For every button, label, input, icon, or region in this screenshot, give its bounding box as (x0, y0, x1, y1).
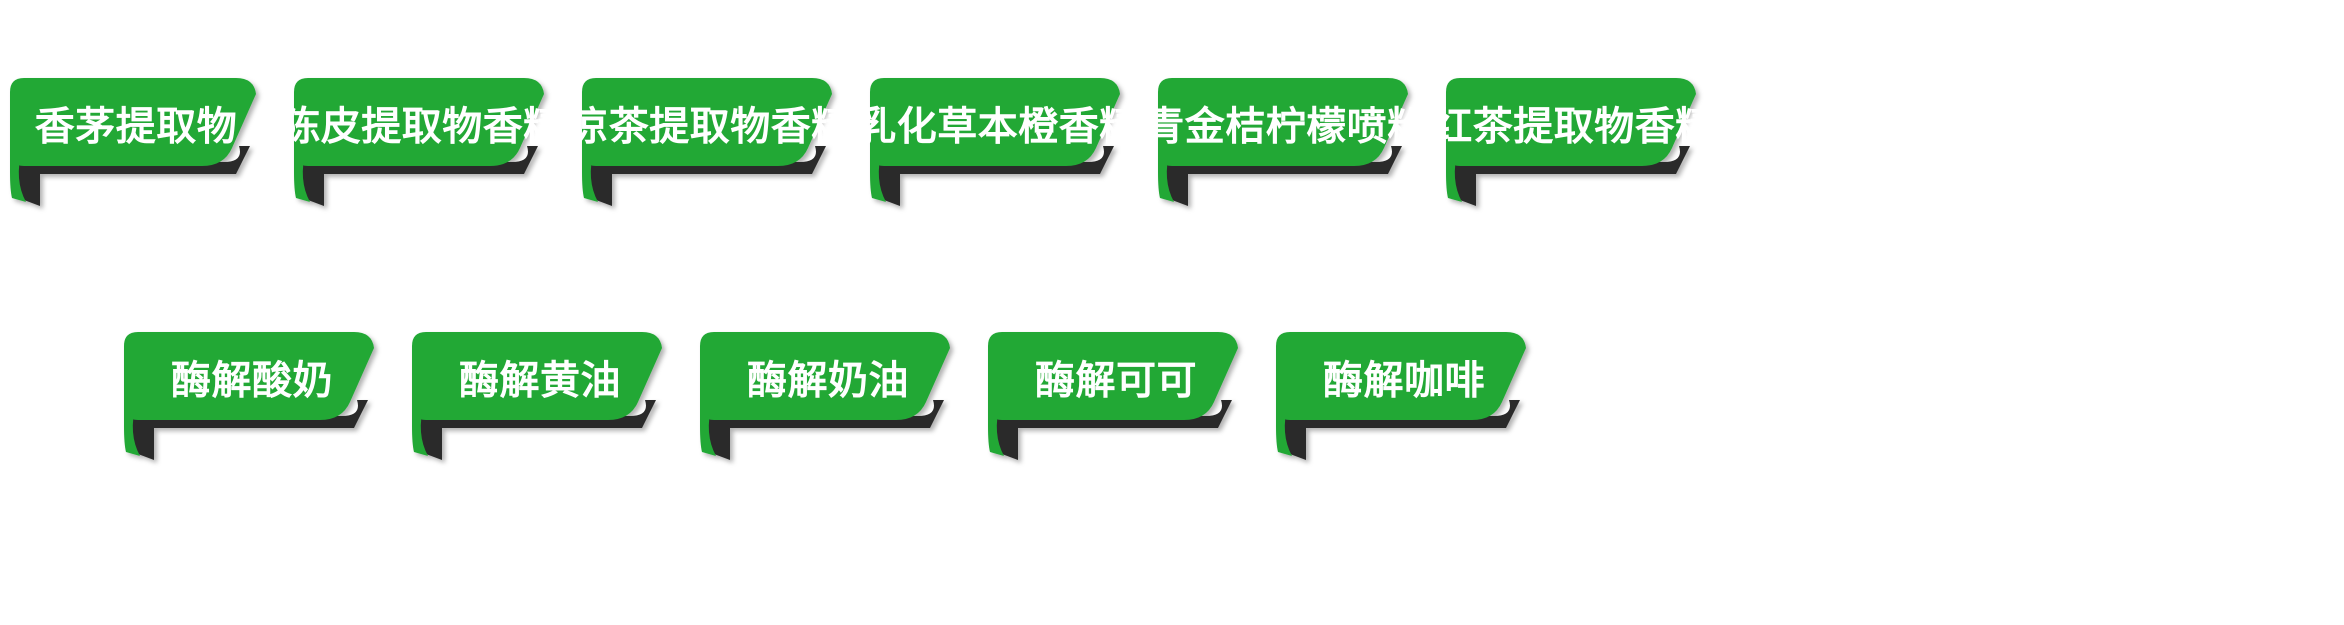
ribbon-body (700, 332, 950, 420)
ribbon-tag[interactable]: 酶解可可 (988, 332, 1240, 460)
ribbon-tag[interactable]: 青金桔柠檬喷粉 (1158, 78, 1410, 206)
ribbon-tag[interactable]: 香茅提取物 (10, 78, 258, 206)
ribbon-shape (582, 78, 834, 206)
ribbon-shape (988, 332, 1240, 460)
ribbon-tag[interactable]: 酶解奶油 (700, 332, 952, 460)
ribbon-tag-board: 香茅提取物陈皮提取物香精凉茶提取物香精乳化草本橙香精青金桔柠檬喷粉红茶提取物香精… (0, 0, 2344, 625)
ribbon-body (1276, 332, 1526, 420)
ribbon-shape (870, 78, 1122, 206)
ribbon-tag[interactable]: 红茶提取物香精 (1446, 78, 1698, 206)
extract-flavor-row: 香茅提取物陈皮提取物香精凉茶提取物香精乳化草本橙香精青金桔柠檬喷粉红茶提取物香精 (10, 78, 1698, 206)
ribbon-shape (124, 332, 376, 460)
ribbon-tag[interactable]: 酶解酸奶 (124, 332, 376, 460)
ribbon-shape (412, 332, 664, 460)
ribbon-body (582, 78, 832, 166)
ribbon-tag[interactable]: 陈皮提取物香精 (294, 78, 546, 206)
ribbon-body (988, 332, 1238, 420)
ribbon-shape (1446, 78, 1698, 206)
ribbon-tag[interactable]: 酶解黄油 (412, 332, 664, 460)
ribbon-body (124, 332, 374, 420)
ribbon-shape (10, 78, 258, 206)
ribbon-body (10, 78, 256, 166)
enzymolysis-flavor-row: 酶解酸奶酶解黄油酶解奶油酶解可可酶解咖啡 (124, 332, 1528, 460)
ribbon-shape (1158, 78, 1410, 206)
ribbon-body (294, 78, 544, 166)
ribbon-tag[interactable]: 凉茶提取物香精 (582, 78, 834, 206)
ribbon-body (1158, 78, 1408, 166)
ribbon-shape (700, 332, 952, 460)
ribbon-body (870, 78, 1120, 166)
ribbon-body (412, 332, 662, 420)
ribbon-tag[interactable]: 乳化草本橙香精 (870, 78, 1122, 206)
ribbon-tag[interactable]: 酶解咖啡 (1276, 332, 1528, 460)
ribbon-shape (1276, 332, 1528, 460)
ribbon-shape (294, 78, 546, 206)
ribbon-body (1446, 78, 1696, 166)
